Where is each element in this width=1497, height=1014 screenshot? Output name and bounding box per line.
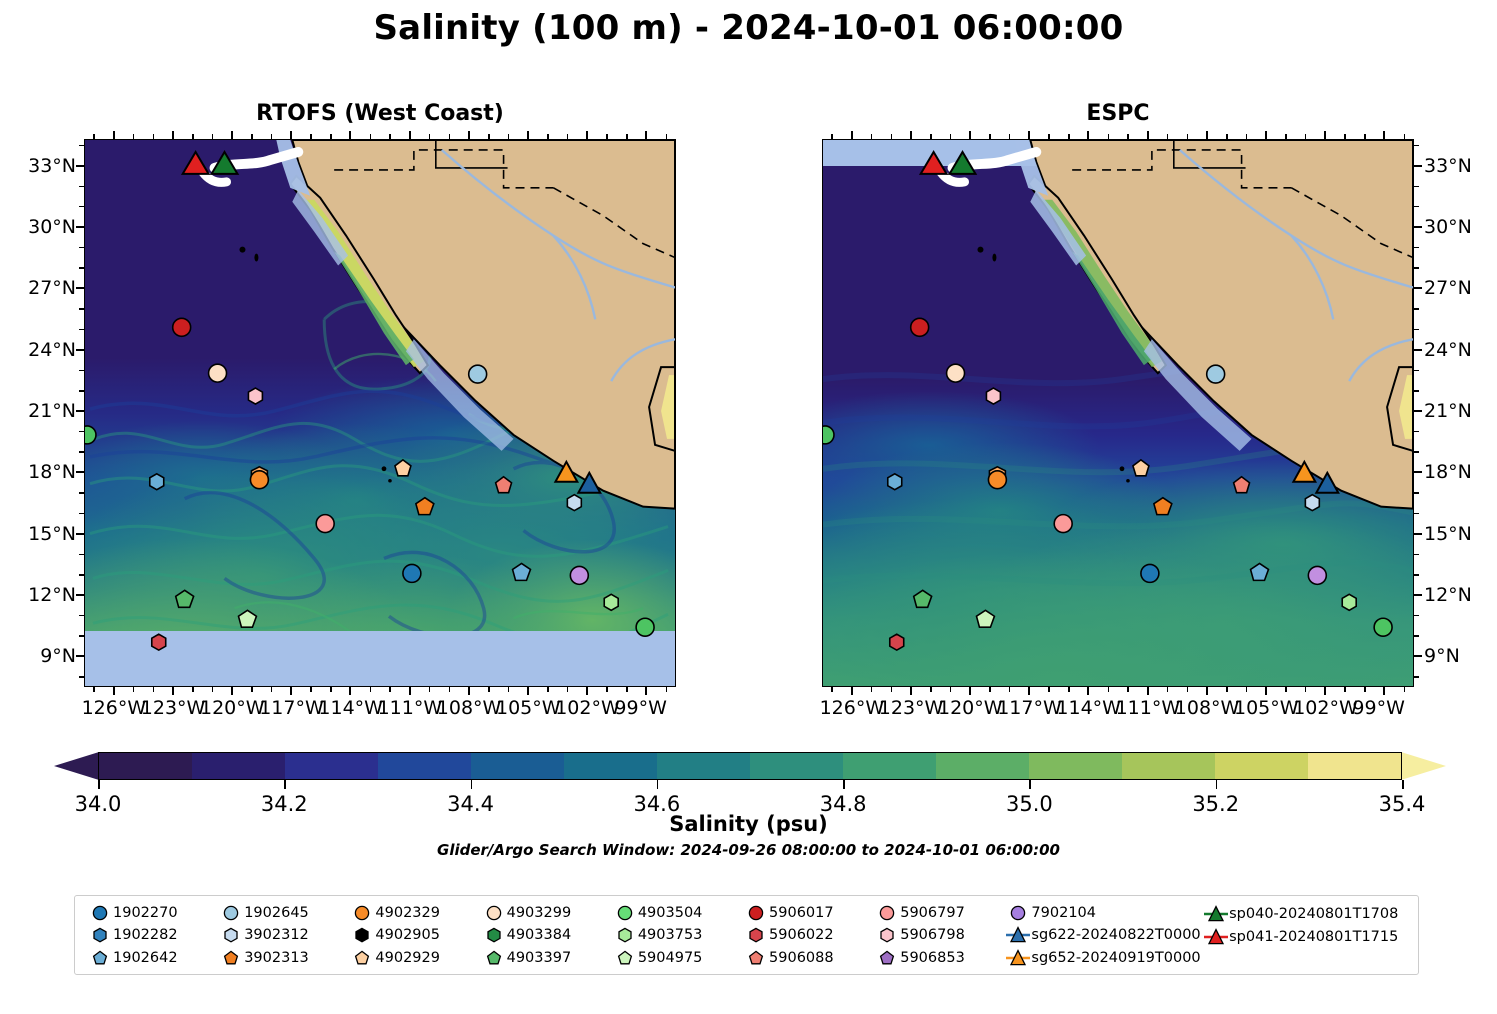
legend-label-sp040-20240801T1708: sp040-20240801T1708 — [1229, 906, 1398, 922]
glider-triangle-icon — [1006, 948, 1030, 968]
lon-minor-tick — [626, 134, 628, 139]
glider-triangle-icon — [1006, 925, 1030, 945]
colorbar-band-0 — [99, 753, 192, 779]
legend-symbol-sg622-20240822T0000 — [1005, 925, 1031, 945]
lon-minor-tick — [1384, 687, 1386, 692]
lon-minor-tick — [310, 687, 312, 692]
marker-sp041 — [921, 152, 947, 174]
lon-minor-tick — [330, 134, 332, 139]
lon-tick-label-105W-espc: 105°W — [1234, 697, 1299, 719]
lat-tick-label-12N-espc: 12°N — [1424, 584, 1472, 606]
colorbar[interactable]: 34.034.234.434.634.835.035.235.4 — [40, 752, 1460, 780]
legend-symbol-1902645 — [218, 903, 244, 923]
lat-tick-label-30N-rtofs: 30°N — [0, 216, 76, 238]
lon-minor-tick — [389, 687, 391, 692]
marker-4903753 — [1342, 594, 1356, 610]
lat-minor-tick — [79, 431, 84, 433]
legend-item-4903384[interactable]: 4903384 — [481, 925, 612, 945]
hexagon-icon — [875, 925, 899, 945]
legend-symbol-4903753 — [612, 925, 638, 945]
lon-tick-label-111W-espc: 111°W — [1116, 697, 1181, 719]
lat-minor-tick — [1414, 451, 1419, 453]
lat-minor-tick — [79, 574, 84, 576]
lat-minor-tick — [1414, 492, 1419, 494]
lat-minor-tick — [79, 349, 84, 351]
lon-minor-tick — [1344, 687, 1346, 692]
lon-minor-tick — [1187, 134, 1189, 139]
pentagon-icon — [613, 948, 637, 968]
legend-label-4902929: 4902929 — [375, 950, 440, 966]
colorbar-band-12 — [1215, 753, 1308, 779]
lon-minor-tick — [1325, 687, 1327, 692]
lon-minor-tick — [1384, 134, 1386, 139]
figure-canvas: Salinity (100 m) - 2024-10-01 06:00:00 R… — [0, 0, 1497, 1014]
lon-minor-tick — [370, 134, 372, 139]
legend-item-3902312[interactable]: 3902312 — [218, 925, 349, 945]
lon-minor-tick — [567, 687, 569, 692]
legend-label-5906798: 5906798 — [900, 927, 965, 943]
legend-column-3: 490329949033844903397 — [481, 903, 612, 968]
lon-minor-tick — [488, 687, 490, 692]
colorbar-tick — [1216, 780, 1218, 789]
lat-tick-label-27N-rtofs: 27°N — [0, 277, 76, 299]
legend-label-sg652-20240919T0000: sg652-20240919T0000 — [1031, 950, 1200, 966]
marker-7902104 — [1308, 566, 1326, 584]
lon-minor-tick — [1246, 134, 1248, 139]
legend-label-sp041-20240801T1715: sp041-20240801T1715 — [1229, 929, 1398, 945]
lat-minor-tick — [79, 410, 84, 412]
pentagon-icon — [875, 948, 899, 968]
marker-3902313 — [416, 498, 434, 515]
marker-1902642 — [1251, 563, 1269, 580]
legend-item-5906797[interactable]: 5906797 — [874, 903, 1005, 923]
marker-5906798 — [986, 388, 1000, 404]
lon-minor-tick — [646, 134, 648, 139]
lon-tick-label-108W-rtofs: 108°W — [437, 697, 502, 719]
lat-minor-tick — [1414, 554, 1419, 556]
legend-item-1902645[interactable]: 1902645 — [218, 903, 349, 923]
legend-symbol-5906022 — [743, 925, 769, 945]
lon-tick-label-123W-rtofs: 123°W — [141, 697, 206, 719]
legend-label-5906022: 5906022 — [769, 927, 834, 943]
legend-item-5906853[interactable]: 5906853 — [874, 948, 1005, 968]
lon-minor-tick — [606, 134, 608, 139]
marker-1902645 — [1207, 365, 1225, 383]
legend-label-sg622-20240822T0000: sg622-20240822T0000 — [1031, 927, 1200, 943]
lon-minor-tick — [1147, 134, 1149, 139]
lon-tick-label-123W-espc: 123°W — [879, 697, 944, 719]
legend-symbol-5904975 — [612, 948, 638, 968]
legend-symbol-1902642 — [87, 948, 113, 968]
lat-tick-label-21N-rtofs: 21°N — [0, 400, 76, 422]
lon-minor-tick — [1206, 134, 1208, 139]
lon-minor-tick — [192, 687, 194, 692]
lon-minor-tick — [1029, 134, 1031, 139]
lat-minor-tick — [1414, 247, 1419, 249]
legend-item-4903504[interactable]: 4903504 — [612, 903, 743, 923]
lon-minor-tick — [1305, 134, 1307, 139]
lon-tick-label-126W-espc: 126°W — [820, 697, 885, 719]
lon-minor-tick — [831, 134, 833, 139]
lon-minor-tick — [528, 134, 530, 139]
pentagon-icon — [219, 948, 243, 968]
lat-tick-label-33N-rtofs: 33°N — [0, 155, 76, 177]
lat-minor-tick — [79, 492, 84, 494]
legend-label-3902312: 3902312 — [244, 927, 309, 943]
lat-minor-tick — [1414, 635, 1419, 637]
lat-minor-tick — [1414, 594, 1419, 596]
legend-label-1902642: 1902642 — [113, 950, 178, 966]
marker-1902282 — [888, 474, 902, 490]
lon-minor-tick — [891, 134, 893, 139]
pentagon-icon — [88, 948, 112, 968]
colorbar-extend-low-arrow — [54, 752, 99, 780]
legend-label-4902905: 4902905 — [375, 927, 440, 943]
legend-symbol-sg652-20240919T0000 — [1005, 948, 1031, 968]
legend-item-3902313[interactable]: 3902313 — [218, 948, 349, 968]
lon-minor-tick — [1246, 687, 1248, 692]
lat-minor-tick — [1414, 656, 1419, 658]
colorbar-tick — [657, 780, 659, 789]
lon-minor-tick — [1364, 134, 1366, 139]
page-title: Salinity (100 m) - 2024-10-01 06:00:00 — [0, 8, 1497, 48]
colorbar-tick — [1402, 780, 1404, 789]
salinity-field-rtofs — [85, 140, 675, 686]
lon-minor-tick — [429, 687, 431, 692]
lat-minor-tick — [79, 288, 84, 290]
lat-minor-tick — [79, 165, 84, 167]
lon-minor-tick — [528, 687, 530, 692]
legend-column-5: 590601759060225906088 — [743, 903, 874, 968]
lat-minor-tick — [79, 472, 84, 474]
legend-box[interactable]: 1902270190228219026421902645390231239023… — [74, 895, 1419, 975]
marker-1902642 — [513, 563, 531, 580]
legend-item-4903753[interactable]: 4903753 — [612, 925, 743, 945]
lon-minor-tick — [409, 134, 411, 139]
lat-minor-tick — [79, 635, 84, 637]
legend-symbol-5906797 — [874, 903, 900, 923]
lon-tick-label-99W-rtofs: 99°W — [614, 697, 666, 719]
legend-label-4902329: 4902329 — [375, 905, 440, 921]
lon-minor-tick — [970, 134, 972, 139]
lon-minor-tick — [350, 687, 352, 692]
marker-4903299 — [947, 364, 965, 382]
marker-4902329 — [250, 471, 268, 489]
colorbar-tick — [471, 780, 473, 789]
lon-minor-tick — [1088, 687, 1090, 692]
legend-symbol-4903504 — [612, 903, 638, 923]
lat-minor-tick — [1414, 226, 1419, 228]
lon-minor-tick — [1364, 687, 1366, 692]
legend-item-1902282[interactable]: 1902282 — [87, 925, 218, 945]
lat-minor-tick — [1414, 574, 1419, 576]
lat-minor-tick — [79, 267, 84, 269]
lon-minor-tick — [1048, 134, 1050, 139]
lat-minor-tick — [79, 329, 84, 331]
circle-icon — [1006, 903, 1030, 923]
hexagon-icon — [744, 925, 768, 945]
lon-minor-tick — [666, 134, 668, 139]
lat-minor-tick — [1414, 370, 1419, 372]
lon-minor-tick — [1285, 134, 1287, 139]
hexagon-icon — [350, 925, 374, 945]
marker-4903504-south — [1374, 618, 1392, 636]
lon-minor-tick — [606, 687, 608, 692]
legend-item-sp040-20240801T1708[interactable]: sp040-20240801T1708 — [1203, 903, 1408, 924]
lon-minor-tick — [1266, 687, 1268, 692]
legend-label-5904975: 5904975 — [638, 950, 703, 966]
legend-item-1902642[interactable]: 1902642 — [87, 948, 218, 968]
lon-minor-tick — [950, 687, 952, 692]
lat-minor-tick — [79, 451, 84, 453]
lon-minor-tick — [626, 687, 628, 692]
lon-tick-label-114W-espc: 114°W — [1056, 697, 1121, 719]
lon-minor-tick — [133, 687, 135, 692]
lon-minor-tick — [1285, 687, 1287, 692]
legend-label-1902282: 1902282 — [113, 927, 178, 943]
lon-minor-tick — [567, 134, 569, 139]
lat-minor-tick — [79, 554, 84, 556]
lon-minor-tick — [831, 687, 833, 692]
lon-minor-tick — [251, 687, 253, 692]
hexagon-icon — [88, 925, 112, 945]
marker-7902104 — [570, 566, 588, 584]
lat-minor-tick — [1414, 410, 1419, 412]
lon-minor-tick — [468, 134, 470, 139]
lon-minor-tick — [192, 134, 194, 139]
map-panel-rtofs[interactable] — [84, 139, 676, 687]
marker-1902282 — [150, 474, 164, 490]
lon-minor-tick — [133, 134, 135, 139]
legend-item-7902104[interactable]: 7902104 — [1005, 903, 1203, 923]
lat-tick-label-15N-rtofs: 15°N — [0, 523, 76, 545]
marker-4903504-south — [636, 618, 654, 636]
circle-icon — [613, 903, 637, 923]
lon-minor-tick — [1404, 134, 1406, 139]
lat-minor-tick — [1414, 329, 1419, 331]
legend-label-3902313: 3902313 — [244, 950, 309, 966]
lat-tick-label-27N-espc: 27°N — [1424, 277, 1472, 299]
marker-5906797 — [316, 515, 334, 533]
lon-minor-tick — [93, 134, 95, 139]
legend-item-5906088[interactable]: 5906088 — [743, 948, 874, 968]
legend-symbol-4902329 — [349, 903, 375, 923]
lat-tick-label-9N-rtofs: 9°N — [0, 645, 76, 667]
hexagon-icon — [482, 925, 506, 945]
lat-minor-tick — [79, 206, 84, 208]
marker-1902270 — [1141, 564, 1159, 582]
legend-label-5906853: 5906853 — [900, 950, 965, 966]
observation-markers-rtofs[interactable] — [85, 140, 675, 686]
legend-item-sg652-20240919T0000[interactable]: sg652-20240919T0000 — [1005, 948, 1203, 968]
marker-4903397 — [914, 590, 932, 607]
marker-3902312 — [1305, 495, 1319, 511]
lon-minor-tick — [930, 687, 932, 692]
lon-minor-tick — [587, 134, 589, 139]
legend-symbol-4903299 — [481, 903, 507, 923]
circle-icon — [875, 903, 899, 923]
colorbar-band-5 — [564, 753, 657, 779]
lat-tick-label-15N-espc: 15°N — [1424, 523, 1472, 545]
legend-label-1902645: 1902645 — [244, 905, 309, 921]
lon-minor-tick — [1266, 134, 1268, 139]
legend-symbol-1902270 — [87, 903, 113, 923]
lon-minor-tick — [989, 134, 991, 139]
marker-sg622 — [1316, 473, 1338, 493]
legend-item-4902929[interactable]: 4902929 — [349, 948, 480, 968]
legend-item-5906017[interactable]: 5906017 — [743, 903, 874, 923]
map-panel-espc[interactable] — [822, 139, 1414, 687]
lat-minor-tick — [1414, 676, 1419, 678]
circle-icon — [219, 903, 243, 923]
legend-item-5904975[interactable]: 5904975 — [612, 948, 743, 968]
pentagon-icon — [482, 948, 506, 968]
lat-minor-tick — [1414, 349, 1419, 351]
colorbar-band-4 — [471, 753, 564, 779]
lon-tick-label-120W-rtofs: 120°W — [200, 697, 265, 719]
lon-minor-tick — [891, 687, 893, 692]
lon-minor-tick — [508, 134, 510, 139]
lon-minor-tick — [212, 687, 214, 692]
legend-item-5906022[interactable]: 5906022 — [743, 925, 874, 945]
marker-1902270 — [403, 564, 421, 582]
lon-minor-tick — [310, 134, 312, 139]
legend-item-sg622-20240822T0000[interactable]: sg622-20240822T0000 — [1005, 925, 1203, 945]
lon-minor-tick — [1187, 687, 1189, 692]
lon-minor-tick — [468, 687, 470, 692]
lat-tick-label-33N-espc: 33°N — [1424, 155, 1472, 177]
lon-minor-tick — [1305, 687, 1307, 692]
lon-minor-tick — [1206, 687, 1208, 692]
marker-4903504-west — [823, 426, 834, 444]
lon-minor-tick — [409, 687, 411, 692]
observation-markers-espc[interactable] — [823, 140, 1413, 686]
colorbar-label: Salinity (psu) — [0, 812, 1497, 836]
lat-minor-tick — [1414, 186, 1419, 188]
lat-minor-tick — [1414, 288, 1419, 290]
colorbar-gradient — [98, 752, 1402, 780]
lon-minor-tick — [449, 134, 451, 139]
marker-4903299 — [209, 364, 227, 382]
pentagon-icon — [744, 948, 768, 968]
legend-grid: 1902270190228219026421902645390231239023… — [87, 903, 1408, 968]
glider-triangle-icon — [1204, 927, 1228, 947]
lon-tick-label-102W-espc: 102°W — [1293, 697, 1358, 719]
legend-label-1902270: 1902270 — [113, 905, 178, 921]
lon-minor-tick — [488, 134, 490, 139]
marker-5906017 — [173, 318, 191, 336]
panel-title-rtofs: RTOFS (West Coast) — [84, 101, 676, 126]
legend-symbol-4902929 — [349, 948, 375, 968]
lat-minor-tick — [1414, 615, 1419, 617]
marker-5904975 — [238, 610, 256, 627]
lon-minor-tick — [291, 134, 293, 139]
lat-minor-tick — [79, 308, 84, 310]
marker-3902312 — [567, 495, 581, 511]
lon-tick-label-108W-espc: 108°W — [1175, 697, 1240, 719]
lon-minor-tick — [1325, 134, 1327, 139]
legend-item-4903299[interactable]: 4903299 — [481, 903, 612, 923]
lon-tick-label-117W-espc: 117°W — [997, 697, 1062, 719]
lon-minor-tick — [1344, 134, 1346, 139]
lon-minor-tick — [389, 134, 391, 139]
lon-minor-tick — [291, 687, 293, 692]
lat-minor-tick — [79, 533, 84, 535]
legend-symbol-4903384 — [481, 925, 507, 945]
lon-tick-label-99W-espc: 99°W — [1352, 697, 1404, 719]
marker-sp041 — [183, 152, 209, 174]
colorbar-band-13 — [1308, 753, 1401, 779]
lat-tick-label-18N-espc: 18°N — [1424, 461, 1472, 483]
lon-tick-label-102W-rtofs: 102°W — [555, 697, 620, 719]
colorbar-band-11 — [1122, 753, 1215, 779]
lon-minor-tick — [1048, 687, 1050, 692]
lon-minor-tick — [1029, 687, 1031, 692]
lon-minor-tick — [1167, 687, 1169, 692]
lon-minor-tick — [547, 687, 549, 692]
legend-item-1902270[interactable]: 1902270 — [87, 903, 218, 923]
lon-minor-tick — [851, 687, 853, 692]
legend-item-5906798[interactable]: 5906798 — [874, 925, 1005, 945]
lon-minor-tick — [950, 134, 952, 139]
lon-minor-tick — [370, 687, 372, 692]
marker-sg622 — [578, 473, 600, 493]
lon-minor-tick — [1088, 134, 1090, 139]
colorbar-band-8 — [843, 753, 936, 779]
marker-sg652 — [555, 462, 577, 482]
lat-minor-tick — [79, 656, 84, 658]
lon-minor-tick — [666, 687, 668, 692]
lon-minor-tick — [1068, 687, 1070, 692]
pentagon-icon — [350, 948, 374, 968]
legend-symbol-3902312 — [218, 925, 244, 945]
colorbar-band-2 — [285, 753, 378, 779]
lat-tick-label-24N-espc: 24°N — [1424, 339, 1472, 361]
lat-minor-tick — [1414, 390, 1419, 392]
lon-minor-tick — [232, 134, 234, 139]
legend-item-4902329[interactable]: 4902329 — [349, 903, 480, 923]
legend-item-4902905[interactable]: 4902905 — [349, 925, 480, 945]
colorbar-tick — [284, 780, 286, 789]
lon-minor-tick — [989, 687, 991, 692]
legend-item-sp041-20240801T1715[interactable]: sp041-20240801T1715 — [1203, 926, 1408, 947]
lat-minor-tick — [1414, 206, 1419, 208]
lon-minor-tick — [930, 134, 932, 139]
legend-item-4903397[interactable]: 4903397 — [481, 948, 612, 968]
lat-tick-label-24N-rtofs: 24°N — [0, 339, 76, 361]
lat-minor-tick — [79, 247, 84, 249]
colorbar-band-7 — [750, 753, 843, 779]
lon-minor-tick — [1108, 134, 1110, 139]
legend-label-5906017: 5906017 — [769, 905, 834, 921]
marker-5906022 — [890, 634, 904, 650]
marker-5904975 — [976, 610, 994, 627]
marker-sg652 — [1293, 462, 1315, 482]
lon-tick-label-111W-rtofs: 111°W — [378, 697, 443, 719]
lat-minor-tick — [79, 145, 84, 147]
lat-minor-tick — [1414, 513, 1419, 515]
legend-symbol-5906853 — [874, 948, 900, 968]
legend-label-4903384: 4903384 — [507, 927, 572, 943]
lat-tick-label-18N-rtofs: 18°N — [0, 461, 76, 483]
legend-symbol-4902905 — [349, 925, 375, 945]
legend-column-6: 590679759067985906853 — [874, 903, 1005, 968]
legend-symbol-sp041-20240801T1715 — [1203, 927, 1229, 947]
marker-4902929 — [395, 460, 411, 476]
lat-minor-tick — [1414, 165, 1419, 167]
legend-label-4903299: 4903299 — [507, 905, 572, 921]
circle-icon — [88, 903, 112, 923]
